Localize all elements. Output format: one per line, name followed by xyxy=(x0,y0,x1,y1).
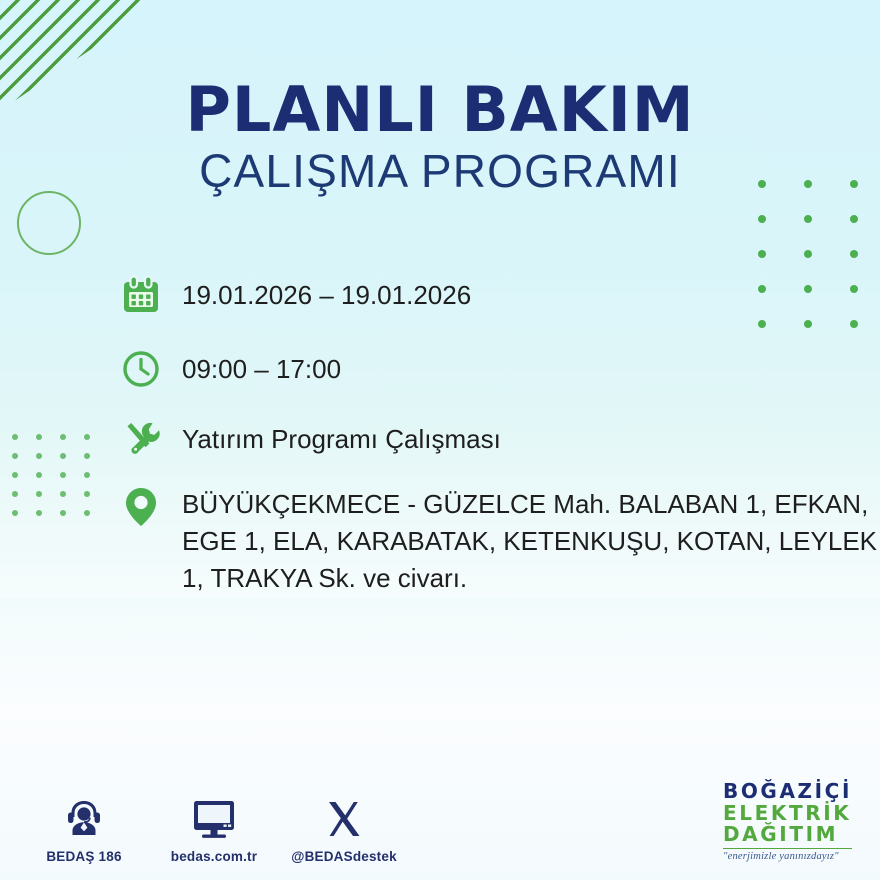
brand-line-dagitim: DAĞITIM xyxy=(723,824,852,845)
time-range-text: 09:00 – 17:00 xyxy=(182,346,341,388)
monitor-icon xyxy=(190,794,238,840)
maintenance-info-block: 19.01.2026 – 19.01.2026 09:00 – 17:00 xyxy=(118,272,878,619)
calendar-icon xyxy=(118,272,164,318)
dot-grid-left-decoration xyxy=(12,434,108,529)
date-range-text: 19.01.2026 – 19.01.2026 xyxy=(182,272,471,314)
contact-social-x[interactable]: @BEDASdestek xyxy=(298,794,390,864)
contact-phone-label: BEDAŞ 186 xyxy=(46,849,121,864)
address-text: BÜYÜKÇEKMECE - GÜZELCE Mah. BALABAN 1, E… xyxy=(182,484,878,597)
info-row-address: BÜYÜKÇEKMECE - GÜZELCE Mah. BALABAN 1, E… xyxy=(118,484,878,597)
poster-footer: BEDAŞ 186 bedas.com.tr xyxy=(0,760,880,880)
page-title: PLANLI BAKIM xyxy=(0,78,880,141)
circle-outline-decoration xyxy=(17,191,81,255)
contact-social-x-label: @BEDASdestek xyxy=(291,849,397,864)
work-type-text: Yatırım Programı Çalışması xyxy=(182,416,501,458)
clock-icon xyxy=(118,346,164,392)
brand-line-elektrik: ELEKTRİK xyxy=(723,803,852,824)
contact-phone[interactable]: BEDAŞ 186 xyxy=(38,794,130,864)
info-row-time: 09:00 – 17:00 xyxy=(118,346,878,392)
brand-divider xyxy=(723,848,852,849)
brand-tagline: "enerjimizle yanınızdayız" xyxy=(723,851,852,862)
x-logo-icon xyxy=(323,794,365,840)
contact-website[interactable]: bedas.com.tr xyxy=(168,794,260,864)
support-agent-icon xyxy=(62,794,106,840)
brand-line-bogazici: BOĞAZİÇİ xyxy=(723,781,852,802)
page-subtitle: ÇALIŞMA PROGRAMI xyxy=(0,146,880,197)
tools-icon xyxy=(118,416,164,462)
contact-website-label: bedas.com.tr xyxy=(171,849,257,864)
contact-group: BEDAŞ 186 bedas.com.tr xyxy=(38,794,390,864)
location-pin-icon xyxy=(118,484,164,530)
bedas-logo: BOĞAZİÇİ ELEKTRİK DAĞITIM "enerjimizle y… xyxy=(723,781,852,862)
info-row-date: 19.01.2026 – 19.01.2026 xyxy=(118,272,878,318)
poster-header: PLANLI BAKIM ÇALIŞMA PROGRAMI xyxy=(0,78,880,197)
info-row-work-type: Yatırım Programı Çalışması xyxy=(118,416,878,462)
poster-canvas: PLANLI BAKIM ÇALIŞMA PROGRAMI xyxy=(0,0,880,880)
